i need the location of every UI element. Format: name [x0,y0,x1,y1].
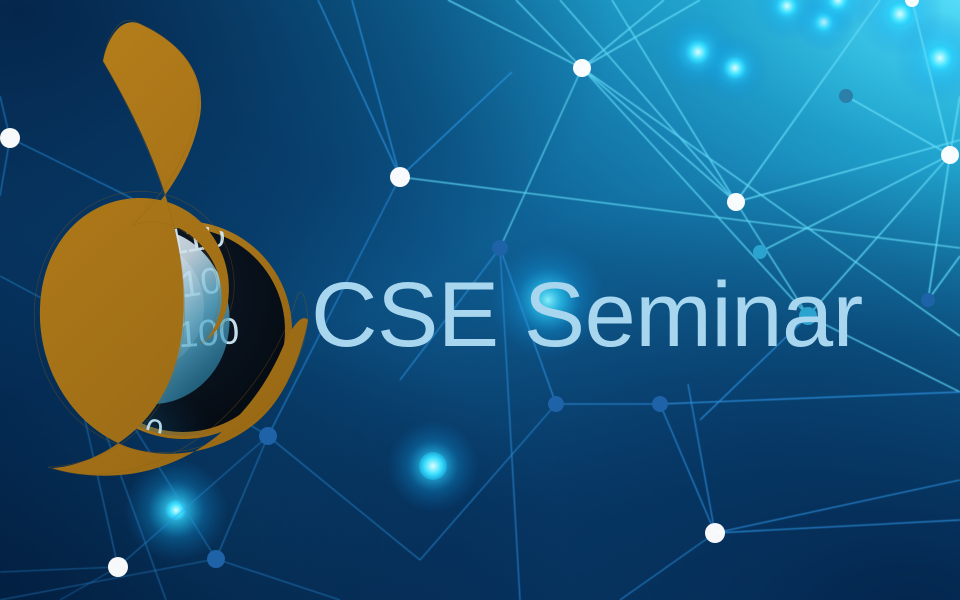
page-title: CSE Seminar [311,269,863,361]
seminar-banner: 1010110 0101010 11011100 010 010. 01010 … [0,0,960,600]
title-layer: CSE Seminar [0,0,960,600]
